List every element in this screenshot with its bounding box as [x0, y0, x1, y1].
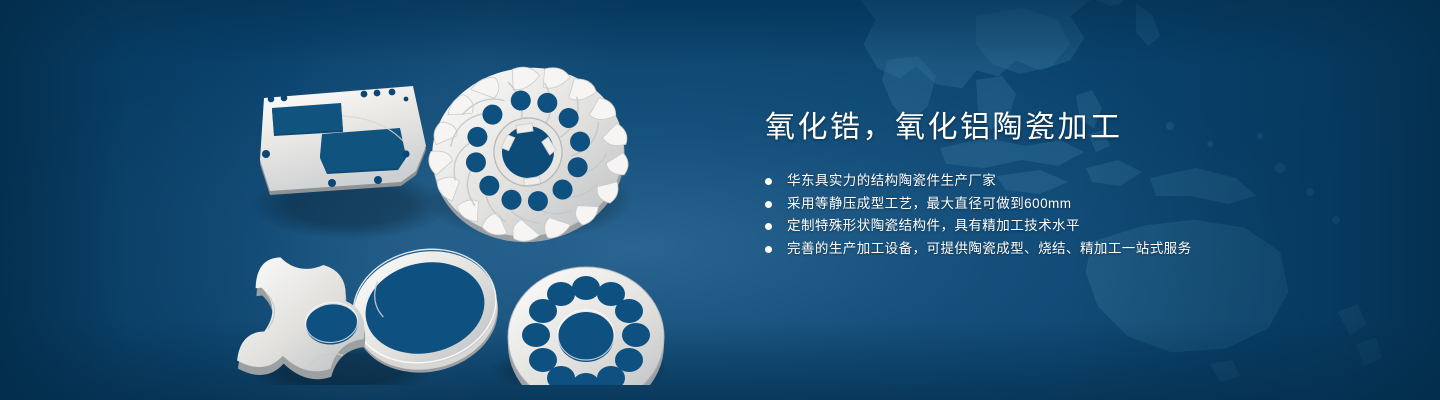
hero-banner: 氧化锆，氧化铝陶瓷加工 华东具实力的结构陶瓷件生产厂家 采用等静压成型工艺，最大… [0, 0, 1440, 400]
feature-list: 华东具实力的结构陶瓷件生产厂家 采用等静压成型工艺，最大直径可做到600mm 定… [765, 170, 1385, 260]
list-item-label: 完善的生产加工设备，可提供陶瓷成型、烧结、精加工一站式服务 [787, 241, 1192, 256]
list-item: 定制特殊形状陶瓷结构件，具有精加工技术水平 [765, 215, 1385, 238]
list-item-label: 定制特殊形状陶瓷结构件，具有精加工技术水平 [787, 218, 1080, 233]
list-item: 华东具实力的结构陶瓷件生产厂家 [765, 170, 1385, 193]
banner-copy: 氧化锆，氧化铝陶瓷加工 华东具实力的结构陶瓷件生产厂家 采用等静压成型工艺，最大… [765, 106, 1385, 260]
ceramic-hole-disc-shape [508, 267, 664, 385]
list-item: 完善的生产加工设备，可提供陶瓷成型、烧结、精加工一站式服务 [765, 238, 1385, 261]
ceramic-plate-shape [260, 86, 426, 195]
list-item-label: 华东具实力的结构陶瓷件生产厂家 [787, 173, 996, 188]
bullet-icon [765, 201, 772, 208]
bullet-icon [765, 178, 772, 185]
list-item: 采用等静压成型工艺，最大直径可做到600mm [765, 193, 1385, 216]
bullet-icon [765, 223, 772, 230]
list-item-label: 采用等静压成型工艺，最大直径可做到600mm [787, 196, 1071, 211]
ceramic-products-image [230, 40, 700, 385]
page-title: 氧化锆，氧化铝陶瓷加工 [765, 106, 1385, 150]
bullet-icon [765, 246, 772, 253]
